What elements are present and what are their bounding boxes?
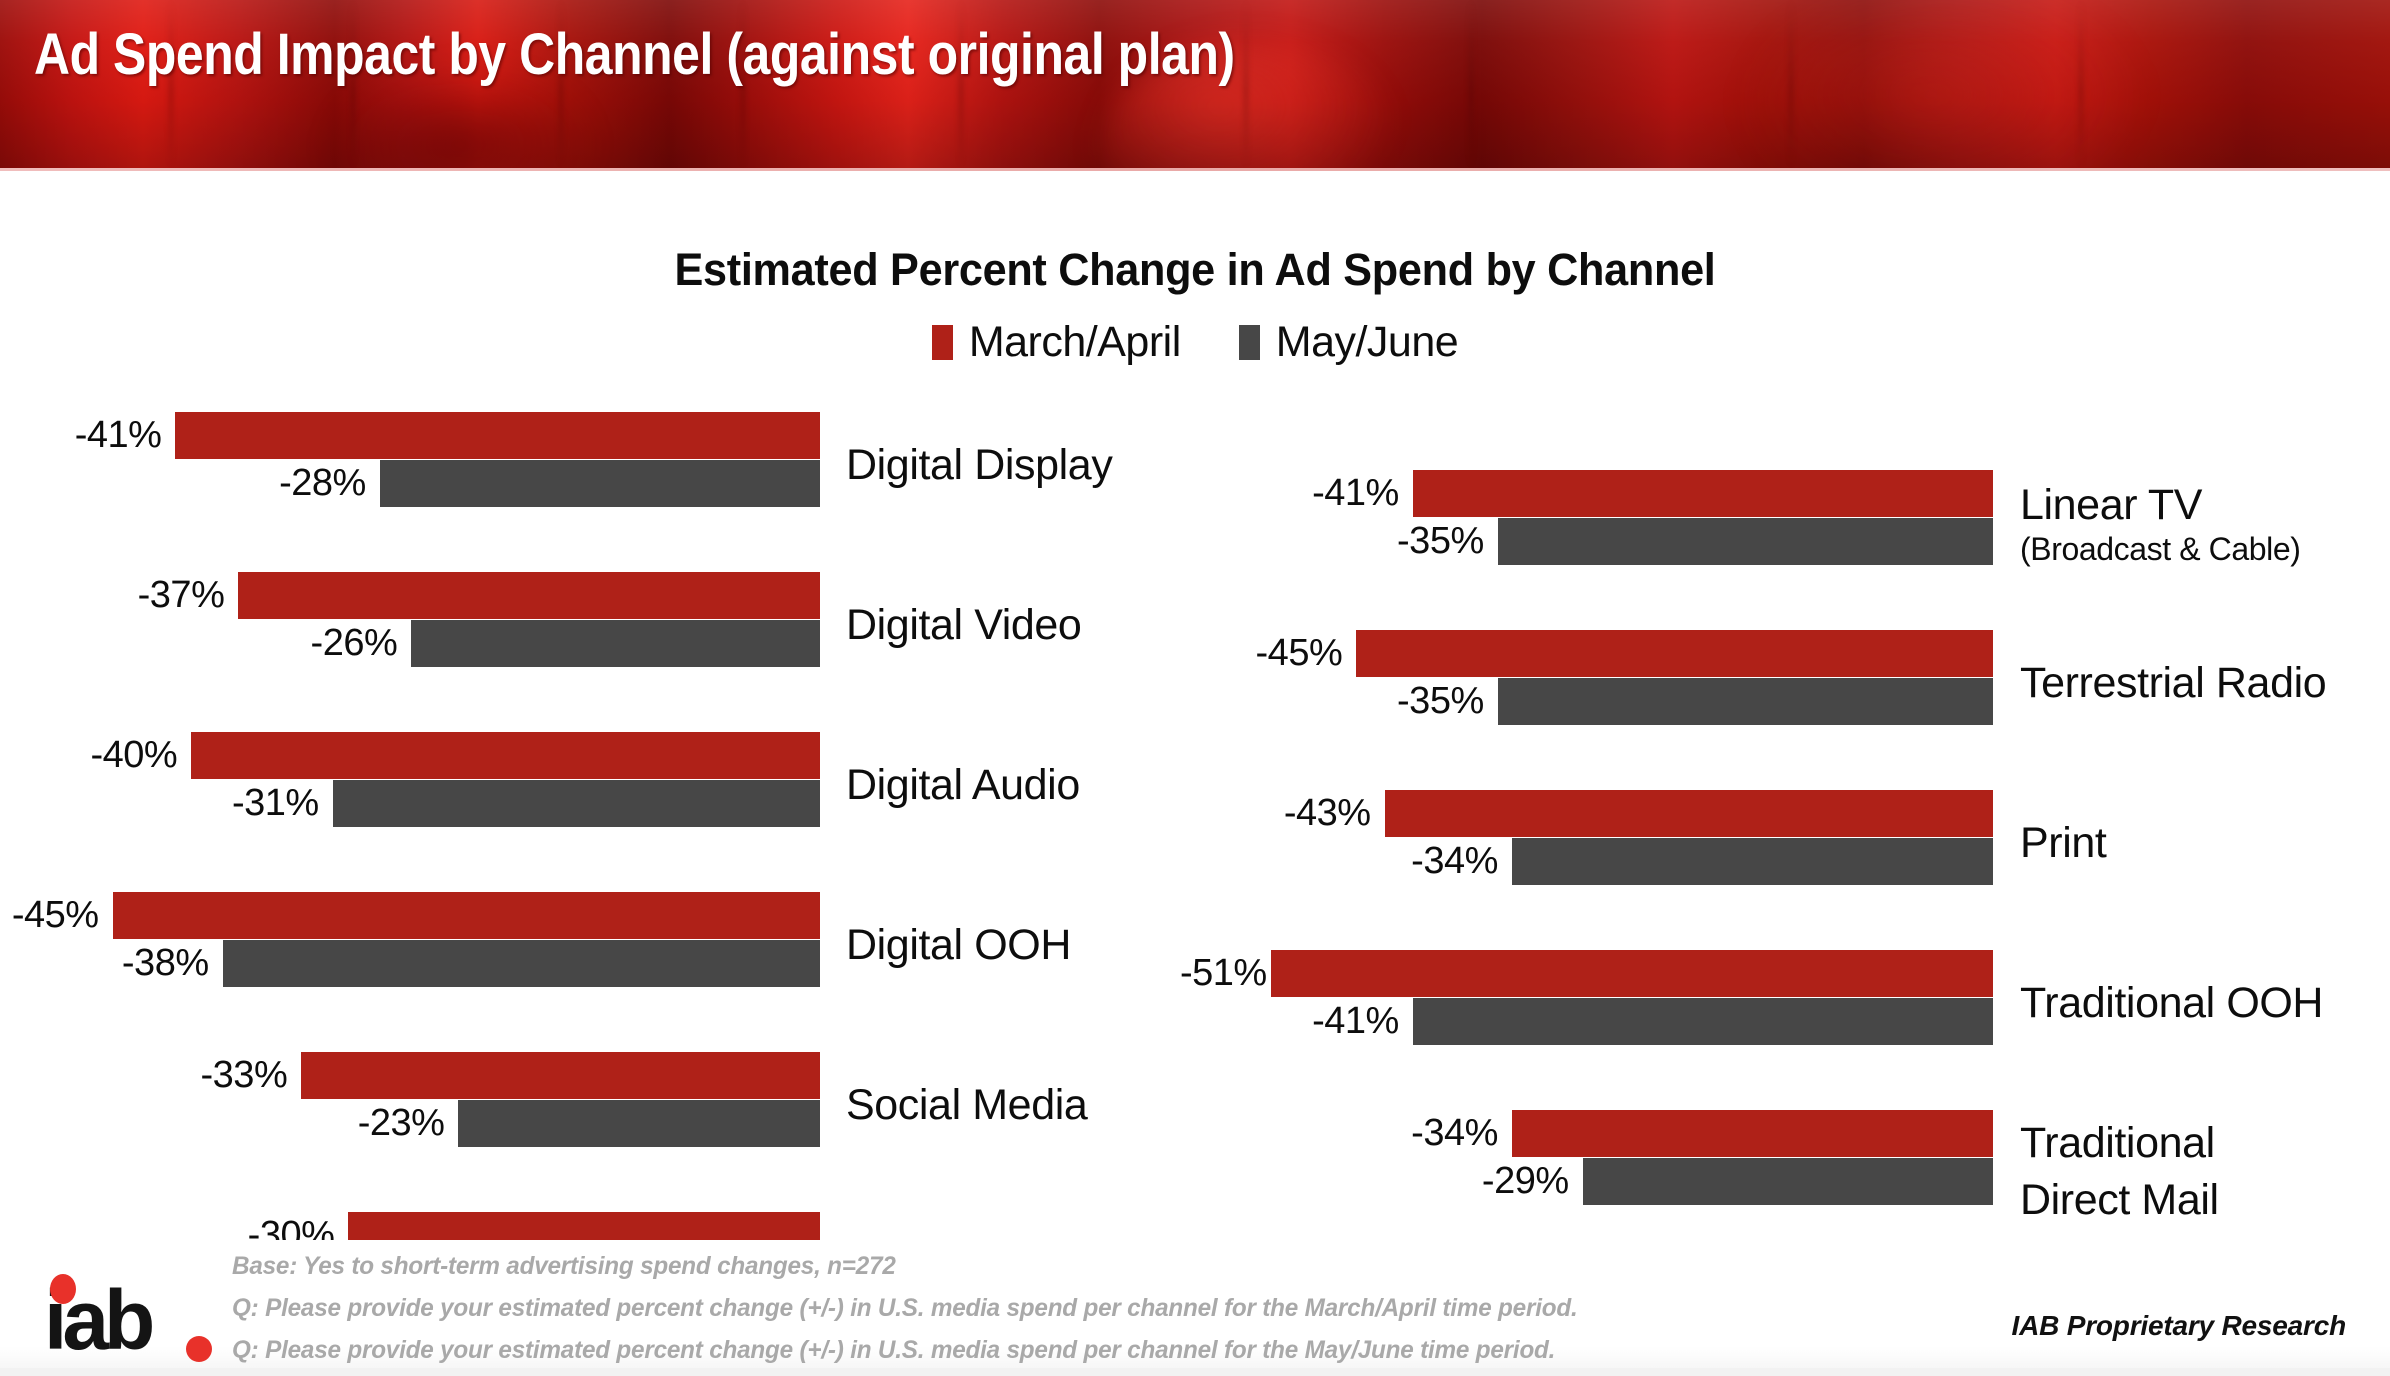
bar-value-may-june: -23% <box>0 1100 444 1147</box>
footer: iab Base: Yes to short-term advertising … <box>0 1240 2390 1376</box>
bar-row: -34% <box>1180 838 2390 885</box>
category-label: Digital Audio <box>846 764 1080 807</box>
footer-attribution: IAB Proprietary Research <box>2012 1310 2346 1342</box>
bar-value-may-june: -35% <box>1180 678 1484 725</box>
bar-value-may-june: -29% <box>1180 1158 1569 1205</box>
legend-swatch-may-june <box>1239 325 1260 360</box>
bar-value-march-april: -43% <box>1180 790 1371 837</box>
bar-march-april[interactable] <box>191 732 820 779</box>
category-label: TraditionalDirect Mail <box>2020 1122 2219 1222</box>
legend-swatch-march-april <box>932 325 953 360</box>
bar-may-june[interactable] <box>1512 838 1993 885</box>
bar-may-june[interactable] <box>333 780 820 827</box>
bar-value-may-june: -34% <box>1180 838 1498 885</box>
footer-bottom-rule <box>0 1368 2390 1376</box>
bar-group: -40%-31%Digital Audio <box>0 732 1180 892</box>
category-label: Terrestrial Radio <box>2020 662 2326 705</box>
bar-march-april[interactable] <box>301 1052 820 1099</box>
bar-value-march-april: -41% <box>1180 470 1399 517</box>
category-label: Traditional OOH <box>2020 982 2323 1025</box>
header-banner: Ad Spend Impact by Channel (against orig… <box>0 0 2390 168</box>
bar-row: -43% <box>1180 790 2390 837</box>
bar-value-may-june: -38% <box>0 940 209 987</box>
bar-may-june[interactable] <box>380 460 820 507</box>
bar-value-march-april: -41% <box>0 412 161 459</box>
legend-label-may-june: May/June <box>1276 318 1458 367</box>
bar-group: -51%-41%Traditional OOH <box>1180 950 2390 1110</box>
bar-value-march-april: -34% <box>1180 1110 1498 1157</box>
bar-may-june[interactable] <box>1583 1158 1993 1205</box>
bar-march-april[interactable] <box>1385 790 1993 837</box>
bar-group: -45%-35%Terrestrial Radio <box>1180 630 2390 790</box>
bar-group: -43%-34%Print <box>1180 790 2390 950</box>
category-label: Digital OOH <box>846 924 1071 967</box>
footnote-base: Base: Yes to short-term advertising spen… <box>232 1252 896 1281</box>
bar-march-april[interactable] <box>1413 470 1993 517</box>
category-label: Digital Video <box>846 604 1081 647</box>
chart-title: Estimated Percent Change in Ad Spend by … <box>48 244 2342 296</box>
bar-march-april[interactable] <box>1271 950 1993 997</box>
bar-value-march-april: -37% <box>0 572 224 619</box>
category-label: Linear TV(Broadcast & Cable) <box>2020 484 2301 565</box>
bar-value-march-april: -51% <box>1180 950 1257 997</box>
bar-march-april[interactable] <box>113 892 820 939</box>
chart-panel-traditional: -41%-35%Linear TV(Broadcast & Cable)-45%… <box>1180 470 2390 1270</box>
bar-value-march-april: -45% <box>0 892 99 939</box>
chart-legend: March/April May/June <box>0 318 2390 367</box>
bar-value-march-april: -40% <box>0 732 177 779</box>
category-label: Digital Display <box>846 444 1112 487</box>
legend-item-may-june[interactable]: May/June <box>1239 318 1458 367</box>
bar-march-april[interactable] <box>1356 630 1993 677</box>
bar-may-june[interactable] <box>223 940 820 987</box>
legend-item-march-april[interactable]: March/April <box>932 318 1181 367</box>
iab-logo-dot-top <box>50 1274 76 1304</box>
header-divider <box>0 168 2390 171</box>
bar-group: -37%-26%Digital Video <box>0 572 1180 732</box>
bar-value-may-june: -26% <box>0 620 397 667</box>
bar-value-march-april: -33% <box>0 1052 287 1099</box>
bar-value-may-june: -28% <box>0 460 366 507</box>
bar-may-june[interactable] <box>1413 998 1993 1045</box>
bar-value-may-june: -35% <box>1180 518 1484 565</box>
chart-panel-digital: -41%-28%Digital Display-37%-26%Digital V… <box>0 412 1180 1372</box>
bar-group: -41%-35%Linear TV(Broadcast & Cable) <box>1180 470 2390 630</box>
bar-may-june[interactable] <box>1498 678 1993 725</box>
slide-title: Ad Spend Impact by Channel (against orig… <box>34 22 1926 89</box>
bar-group: -45%-38%Digital OOH <box>0 892 1180 1052</box>
bar-group: -41%-28%Digital Display <box>0 412 1180 572</box>
category-label: Print <box>2020 822 2106 865</box>
bar-may-june[interactable] <box>411 620 820 667</box>
iab-logo-dot-period <box>186 1336 212 1362</box>
footnote-question-may-june: Q: Please provide your estimated percent… <box>232 1336 1555 1365</box>
bar-may-june[interactable] <box>458 1100 820 1147</box>
bar-value-may-june: -41% <box>1180 998 1399 1045</box>
bar-group: -33%-23%Social Media <box>0 1052 1180 1212</box>
bar-value-may-june: -31% <box>0 780 319 827</box>
bar-march-april[interactable] <box>238 572 820 619</box>
footnote-question-march-april: Q: Please provide your estimated percent… <box>232 1294 1578 1323</box>
iab-logo: iab <box>44 1258 214 1362</box>
bar-may-june[interactable] <box>1498 518 1993 565</box>
bar-value-march-april: -45% <box>1180 630 1342 677</box>
legend-label-march-april: March/April <box>969 318 1181 367</box>
bar-march-april[interactable] <box>1512 1110 1993 1157</box>
category-label: Social Media <box>846 1084 1087 1127</box>
bar-march-april[interactable] <box>175 412 820 459</box>
